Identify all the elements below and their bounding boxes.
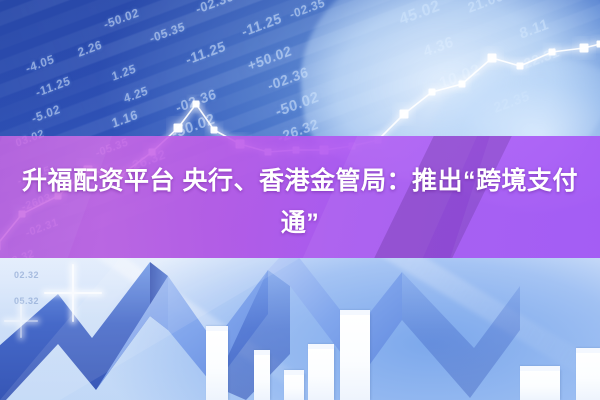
headline-line-2: 通” (14, 202, 586, 244)
chart-node-marker (597, 41, 600, 48)
chart-bar-cap (520, 366, 560, 371)
chart-node-marker (193, 101, 200, 108)
chart-bar-cap (576, 348, 600, 353)
chart-node-marker (459, 81, 466, 88)
chart-node-marker (517, 63, 524, 70)
chart-bar (284, 374, 304, 400)
chart-bar-cap (340, 310, 370, 315)
sparkle-icon (4, 304, 38, 338)
sparkle-icon (44, 264, 102, 322)
chart-bar (254, 354, 270, 400)
chart-bar (206, 330, 228, 400)
chart-node-marker (400, 110, 409, 119)
chart-node-marker (580, 44, 589, 53)
chart-node-marker (211, 127, 218, 134)
chart-bar-cap (284, 370, 304, 375)
chart-node-marker (174, 124, 183, 133)
chart-bar-cap (206, 326, 228, 331)
page-title: 升福配资平台 央行、香港金管局：推出“跨境支付 通” (0, 160, 600, 244)
chart-bar-cap (308, 344, 334, 349)
chart-bar (576, 352, 600, 400)
chart-node-marker (429, 89, 436, 96)
chart-bar (520, 370, 560, 400)
chart-node-marker (549, 49, 556, 56)
chart-bar (340, 314, 370, 400)
lower-chart-area: 02.3205.32 (0, 258, 600, 400)
headline-line-1: 升福配资平台 央行、香港金管局：推出“跨境支付 (14, 160, 586, 202)
chart-bar (308, 348, 334, 400)
chart-bar-cap (254, 350, 270, 355)
floor-number: 02.32 (14, 270, 39, 280)
chart-node-marker (488, 54, 497, 63)
news-banner-image: -02.3621.06-02.3545.02-50.02-11.258.11-0… (0, 0, 600, 400)
